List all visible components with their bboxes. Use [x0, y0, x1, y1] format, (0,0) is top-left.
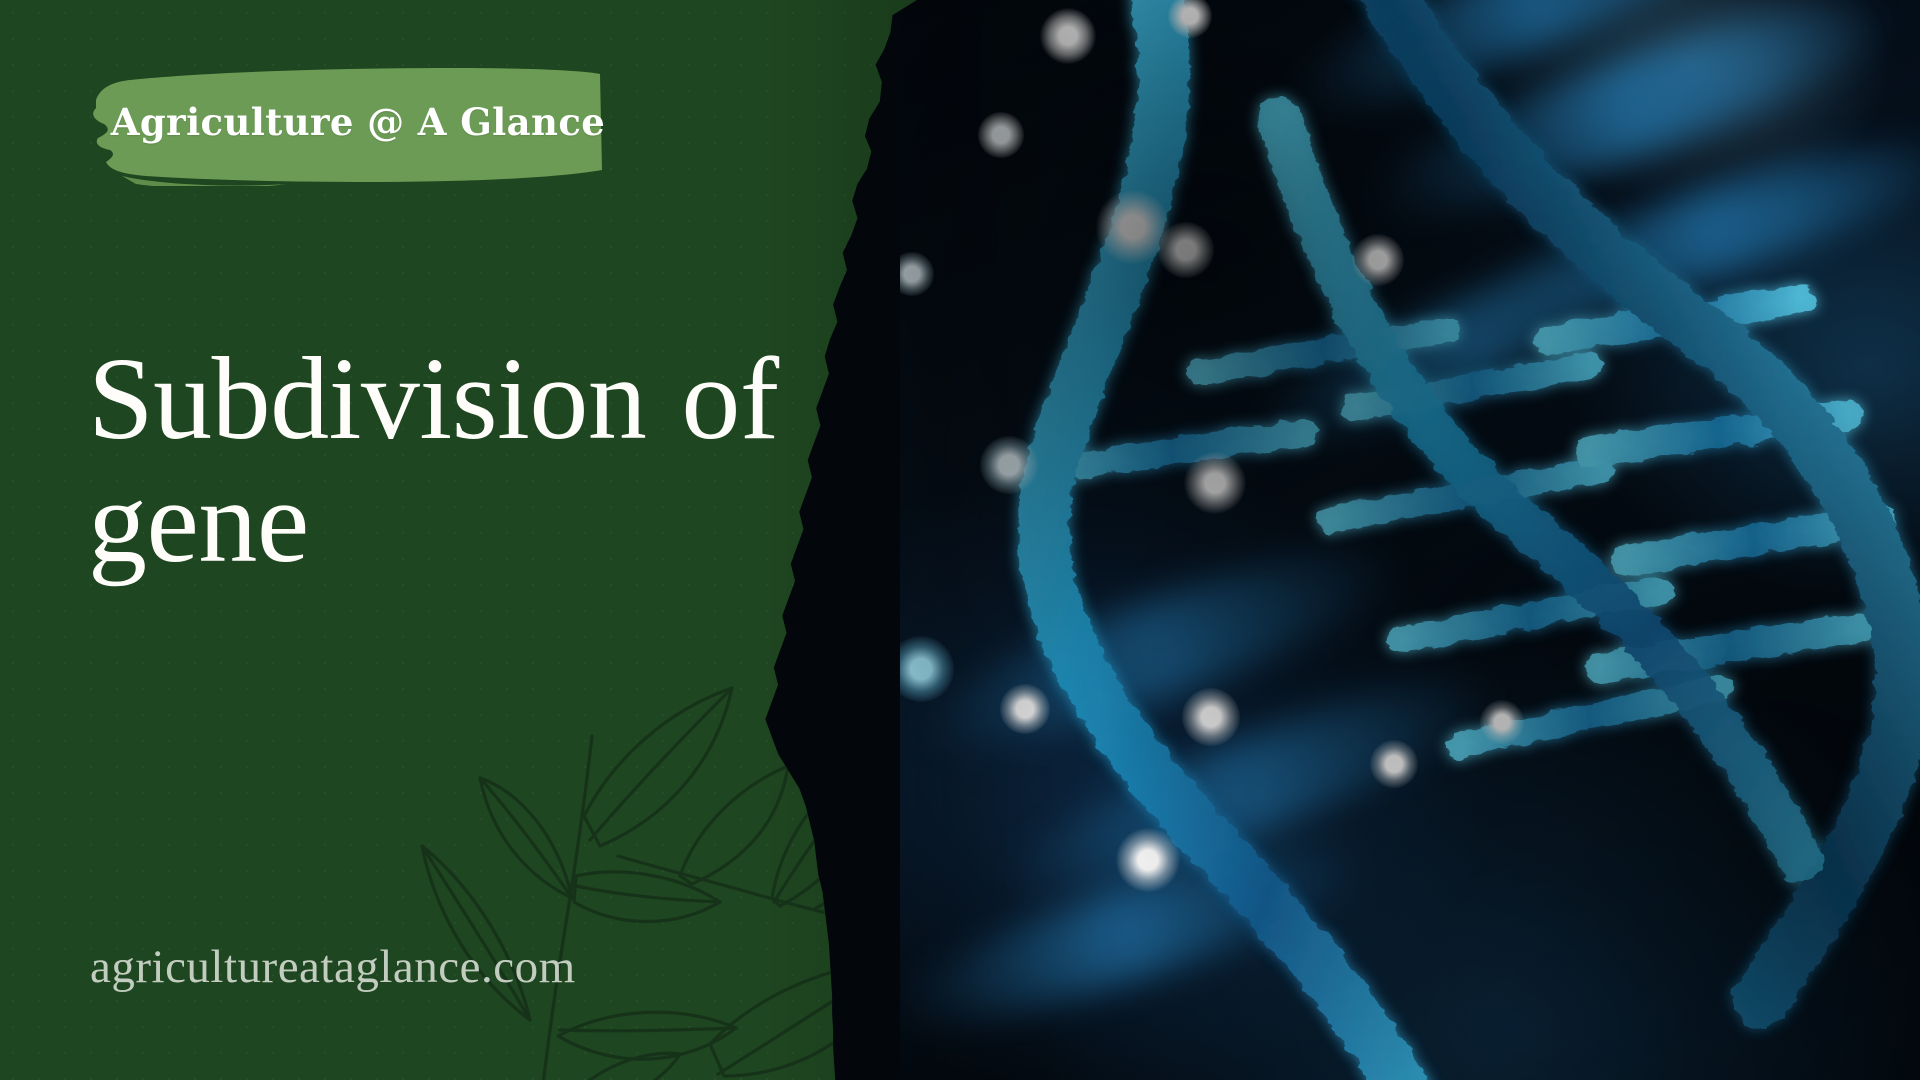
brand-badge[interactable]: Agriculture @ A Glance — [86, 58, 606, 186]
page-title-line-2: gene — [88, 461, 868, 584]
page-title-line-1: Subdivision of — [88, 338, 868, 461]
page-title: Subdivision of gene — [88, 338, 868, 583]
slide-canvas: Agriculture @ A Glance Subdivision of ge… — [0, 0, 1920, 1080]
dna-helix-photo — [900, 0, 1920, 1080]
brand-badge-label: Agriculture @ A Glance — [86, 58, 606, 186]
dna-strand-graphic — [900, 0, 1920, 1080]
website-url[interactable]: agricultureataglance.com — [90, 940, 576, 994]
leaf-branch-decoration — [380, 640, 940, 1080]
